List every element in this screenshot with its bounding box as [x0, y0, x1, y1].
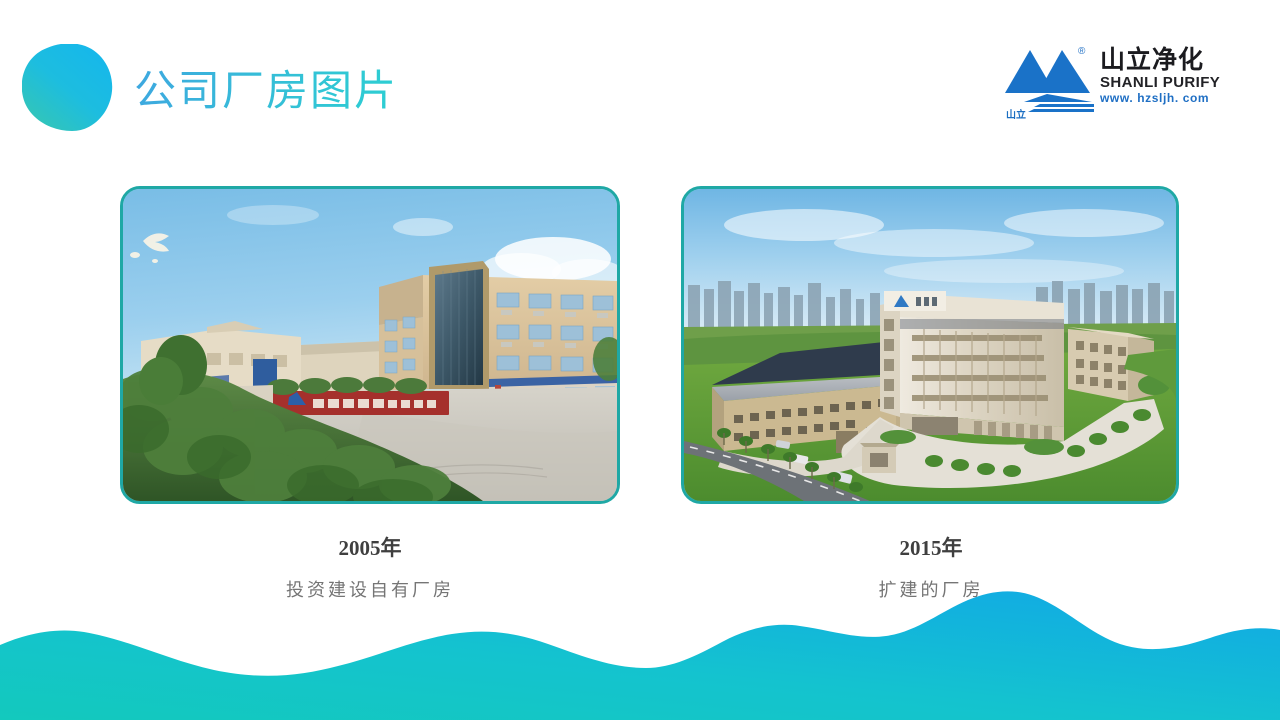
bottom-wave-decoration [0, 590, 1280, 720]
factory-photo-2015 [684, 189, 1176, 501]
photo-card-2005[interactable] [120, 186, 620, 504]
page-title: 公司厂房图片 [134, 61, 398, 121]
logo-mark-label: 山立 [1006, 106, 1026, 121]
logo-company-en: SHANLI PURIFY [1100, 74, 1224, 91]
company-logo: ® 山立 山立净化 SHANLI PURIFY www. hzsljh. com [1000, 44, 1222, 122]
logo-company-cn: 山立净化 [1100, 46, 1224, 74]
logo-website-url: www. hzsljh. com [1100, 91, 1224, 106]
decorative-blob [22, 44, 114, 132]
slide-canvas: 公司厂房图片 ® 山立 山立净化 SHANLI PURIFY www. hzsl… [0, 0, 1280, 720]
photo-card-2015[interactable] [681, 186, 1179, 504]
registered-mark-icon: ® [1078, 46, 1085, 57]
logo-text-block: 山立净化 SHANLI PURIFY www. hzsljh. com [1100, 46, 1224, 106]
caption-year-2005: 2005年 [120, 533, 620, 563]
factory-photo-2005 [123, 189, 617, 501]
caption-year-2015: 2015年 [681, 533, 1181, 563]
